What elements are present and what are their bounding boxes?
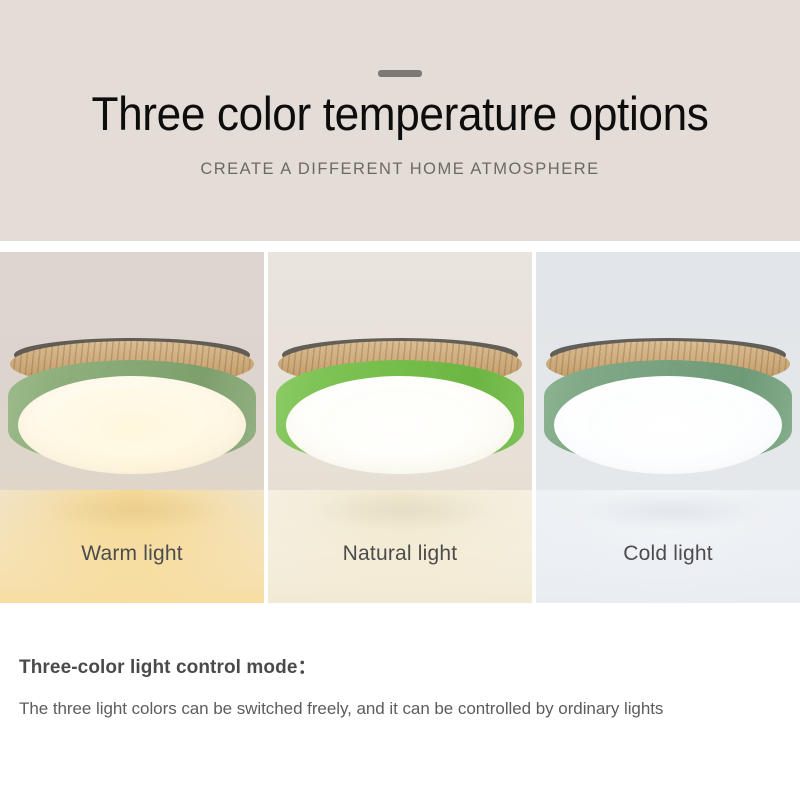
color-temperature-gallery: Warm light Natural light xyxy=(0,252,800,603)
footer-heading: Three-color light control mode： xyxy=(19,655,317,681)
divider-dash-icon xyxy=(378,70,422,77)
ceiling-lamp xyxy=(540,338,796,486)
panel-label-cold-light: Cold light xyxy=(536,541,800,567)
page-subtitle: CREATE A DIFFERENT HOME ATMOSPHERE xyxy=(12,157,788,181)
panel-warm-light[interactable]: Warm light xyxy=(0,252,264,603)
panel-natural-light[interactable]: Natural light xyxy=(268,252,532,603)
ceiling-lamp xyxy=(272,338,528,486)
footer-description: Three-color light control mode： The thre… xyxy=(0,603,800,800)
header-band: Three color temperature options CREATE A… xyxy=(0,0,800,241)
lamp-diffuser xyxy=(554,376,782,474)
lamp-diffuser xyxy=(286,376,514,474)
panel-cold-light[interactable]: Cold light xyxy=(536,252,800,603)
product-feature-page: Three color temperature options CREATE A… xyxy=(0,0,800,800)
lamp-diffuser xyxy=(18,376,246,474)
ceiling-lamp xyxy=(4,338,260,486)
panel-label-natural-light: Natural light xyxy=(268,541,532,567)
page-title: Three color temperature options xyxy=(24,85,776,143)
footer-body-text: The three light colors can be switched f… xyxy=(19,696,663,721)
panel-label-warm-light: Warm light xyxy=(0,541,264,567)
